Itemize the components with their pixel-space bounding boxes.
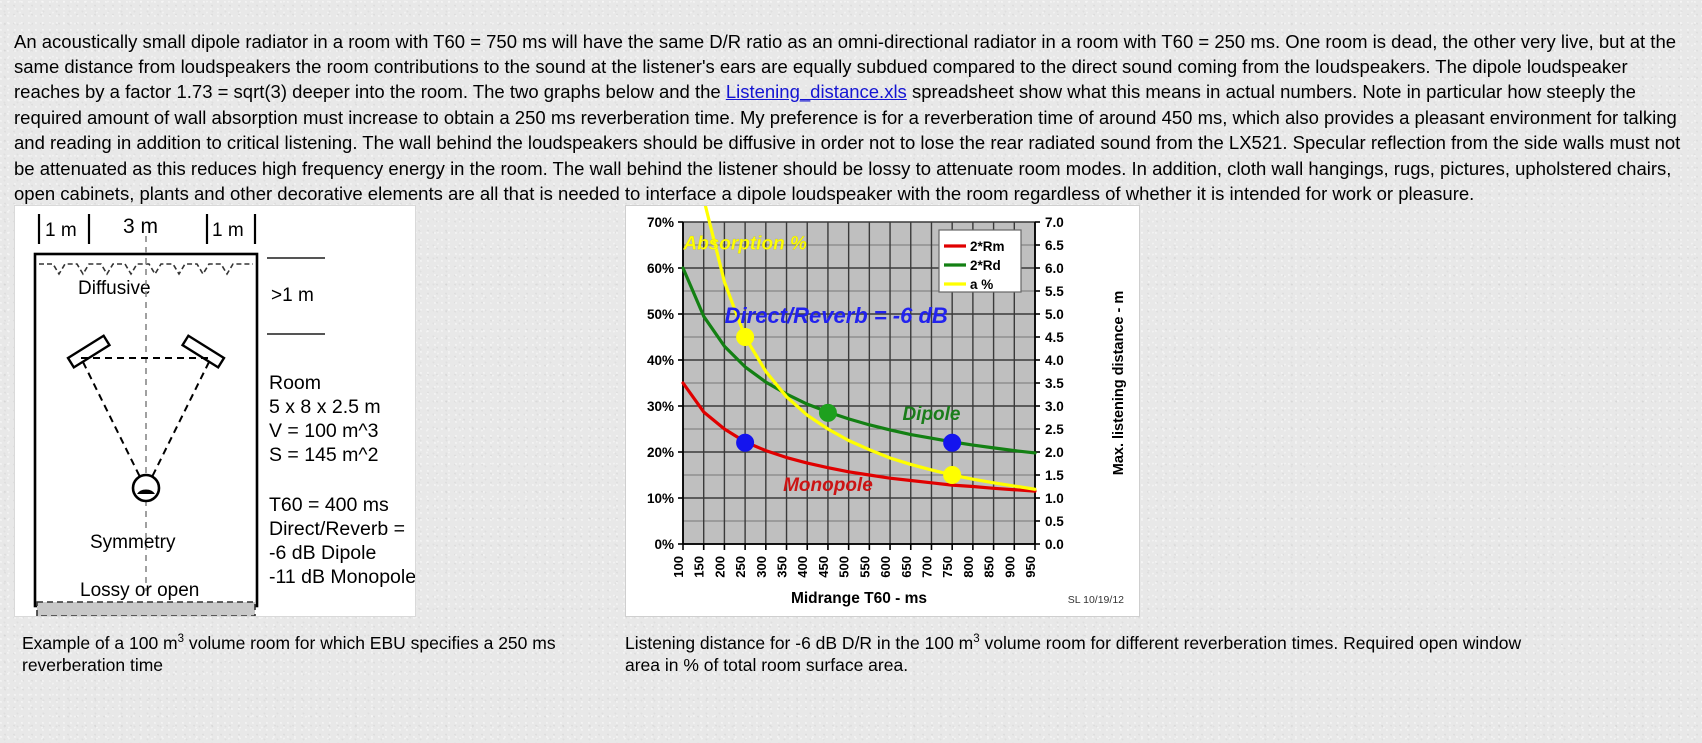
x-tick-label: 550 (857, 556, 872, 578)
room-diagram-figure: 1 m 3 m 1 m Diffusive (14, 205, 416, 617)
y-tick-label: 40% (647, 353, 674, 368)
y-tick-label: 70% (647, 215, 674, 230)
legend-label-a: a % (970, 277, 993, 292)
annotation-absorption: Absorption % (682, 234, 807, 255)
chart-watermark: SL 10/19/12 (1068, 594, 1124, 606)
x-tick-label: 250 (733, 556, 748, 578)
y2-tick-label: 5.0 (1045, 307, 1064, 322)
room-note-2: V = 100 m^3 (269, 420, 378, 442)
y-tick-label: 0% (654, 537, 674, 552)
diffusive-wall-label: Diffusive (78, 278, 151, 299)
annotation-monopole: Monopole (783, 475, 873, 496)
caption-right: Listening distance for -6 dB D/R in the … (625, 632, 1525, 676)
y2-axis-title: Max. listening distance - m (1111, 291, 1127, 476)
x-tick-label: 900 (1002, 556, 1017, 578)
room-note-1: 5 x 8 x 2.5 m (269, 396, 381, 418)
page-root: An acoustically small dipole radiator in… (0, 0, 1702, 743)
room-note2-2: -6 dB Dipole (269, 542, 376, 564)
x-tick-label: 800 (961, 556, 976, 578)
x-tick-label: 750 (940, 556, 955, 578)
y-tick-label: 60% (647, 261, 674, 276)
listening-distance-chart-figure: 0%10%20%30%40%50%60%70%0.00.51.01.52.02.… (625, 205, 1140, 617)
room-note2-1: Direct/Reverb = (269, 518, 405, 540)
caption-left-a: Example of a 100 m (22, 633, 178, 653)
x-tick-label: 200 (712, 556, 727, 578)
x-tick-label: 100 (671, 556, 686, 578)
y-tick-label: 30% (647, 399, 674, 414)
y2-tick-label: 1.0 (1045, 491, 1064, 506)
y2-tick-label: 4.0 (1045, 353, 1064, 368)
y-tick-label: 10% (647, 491, 674, 506)
x-axis-title: Midrange T60 - ms (791, 590, 927, 607)
lossy-wall-band (37, 602, 255, 616)
y2-tick-label: 3.5 (1045, 376, 1064, 391)
annotation-dipole: Dipole (902, 404, 960, 425)
room-note2-3: -11 dB Monopole (269, 566, 415, 588)
x-tick-label: 400 (795, 556, 810, 578)
listener-position-icon (133, 475, 159, 501)
side-gap-label: >1 m (271, 285, 314, 306)
symmetry-label: Symmetry (90, 532, 176, 553)
x-tick-label: 450 (816, 556, 831, 578)
y2-tick-label: 0.0 (1045, 537, 1064, 552)
room-note2-0: T60 = 400 ms (269, 494, 389, 516)
room-diagram-svg: 1 m 3 m 1 m Diffusive (15, 206, 415, 616)
x-tick-label: 500 (837, 556, 852, 578)
data-marker-monopole-400ms (737, 434, 754, 451)
legend-label-2Rm: 2*Rm (970, 239, 1005, 254)
annotation-direct-reverb-6-db: Direct/Reverb = -6 dB (725, 303, 948, 328)
listening-distance-xls-link[interactable]: Listening_distance.xls (726, 81, 907, 102)
x-tick-label: 950 (1023, 556, 1038, 578)
room-note-0: Room (269, 372, 321, 394)
y2-tick-label: 3.0 (1045, 399, 1064, 414)
y2-tick-label: 2.5 (1045, 422, 1064, 437)
y2-tick-label: 6.5 (1045, 238, 1064, 253)
y2-tick-label: 0.5 (1045, 514, 1064, 529)
y2-tick-label: 5.5 (1045, 284, 1064, 299)
y2-tick-label: 7.0 (1045, 215, 1064, 230)
x-tick-label: 350 (775, 556, 790, 578)
caption-right-a: Listening distance for -6 dB D/R in the … (625, 633, 973, 653)
y2-tick-label: 1.5 (1045, 468, 1064, 483)
y-tick-label: 50% (647, 307, 674, 322)
legend-label-2Rd: 2*Rd (970, 258, 1001, 273)
x-tick-label: 700 (919, 556, 934, 578)
listening-distance-chart-svg: 0%10%20%30%40%50%60%70%0.00.51.01.52.02.… (626, 206, 1139, 616)
lossy-wall-label: Lossy or open (80, 580, 199, 601)
x-tick-label: 300 (754, 556, 769, 578)
x-tick-label: 600 (878, 556, 893, 578)
y-tick-label: 20% (647, 445, 674, 460)
x-tick-label: 150 (692, 556, 707, 578)
y2-tick-label: 4.5 (1045, 330, 1064, 345)
data-marker-dipole-450ms (819, 404, 836, 421)
y2-tick-label: 6.0 (1045, 261, 1064, 276)
dim-left-label: 1 m (45, 220, 77, 241)
caption-left: Example of a 100 m3 volume room for whic… (22, 632, 602, 676)
data-marker-dipole-250ms (737, 329, 754, 346)
room-note-3: S = 145 m^2 (269, 444, 378, 466)
intro-paragraph: An acoustically small dipole radiator in… (14, 29, 1688, 207)
data-marker-monopole-750ms (944, 467, 961, 484)
x-tick-label: 850 (982, 556, 997, 578)
y2-tick-label: 2.0 (1045, 445, 1064, 460)
dim-right-label: 1 m (212, 220, 244, 241)
x-tick-label: 650 (899, 556, 914, 578)
dim-center-label: 3 m (123, 215, 158, 238)
data-marker-dipole-750ms (944, 434, 961, 451)
